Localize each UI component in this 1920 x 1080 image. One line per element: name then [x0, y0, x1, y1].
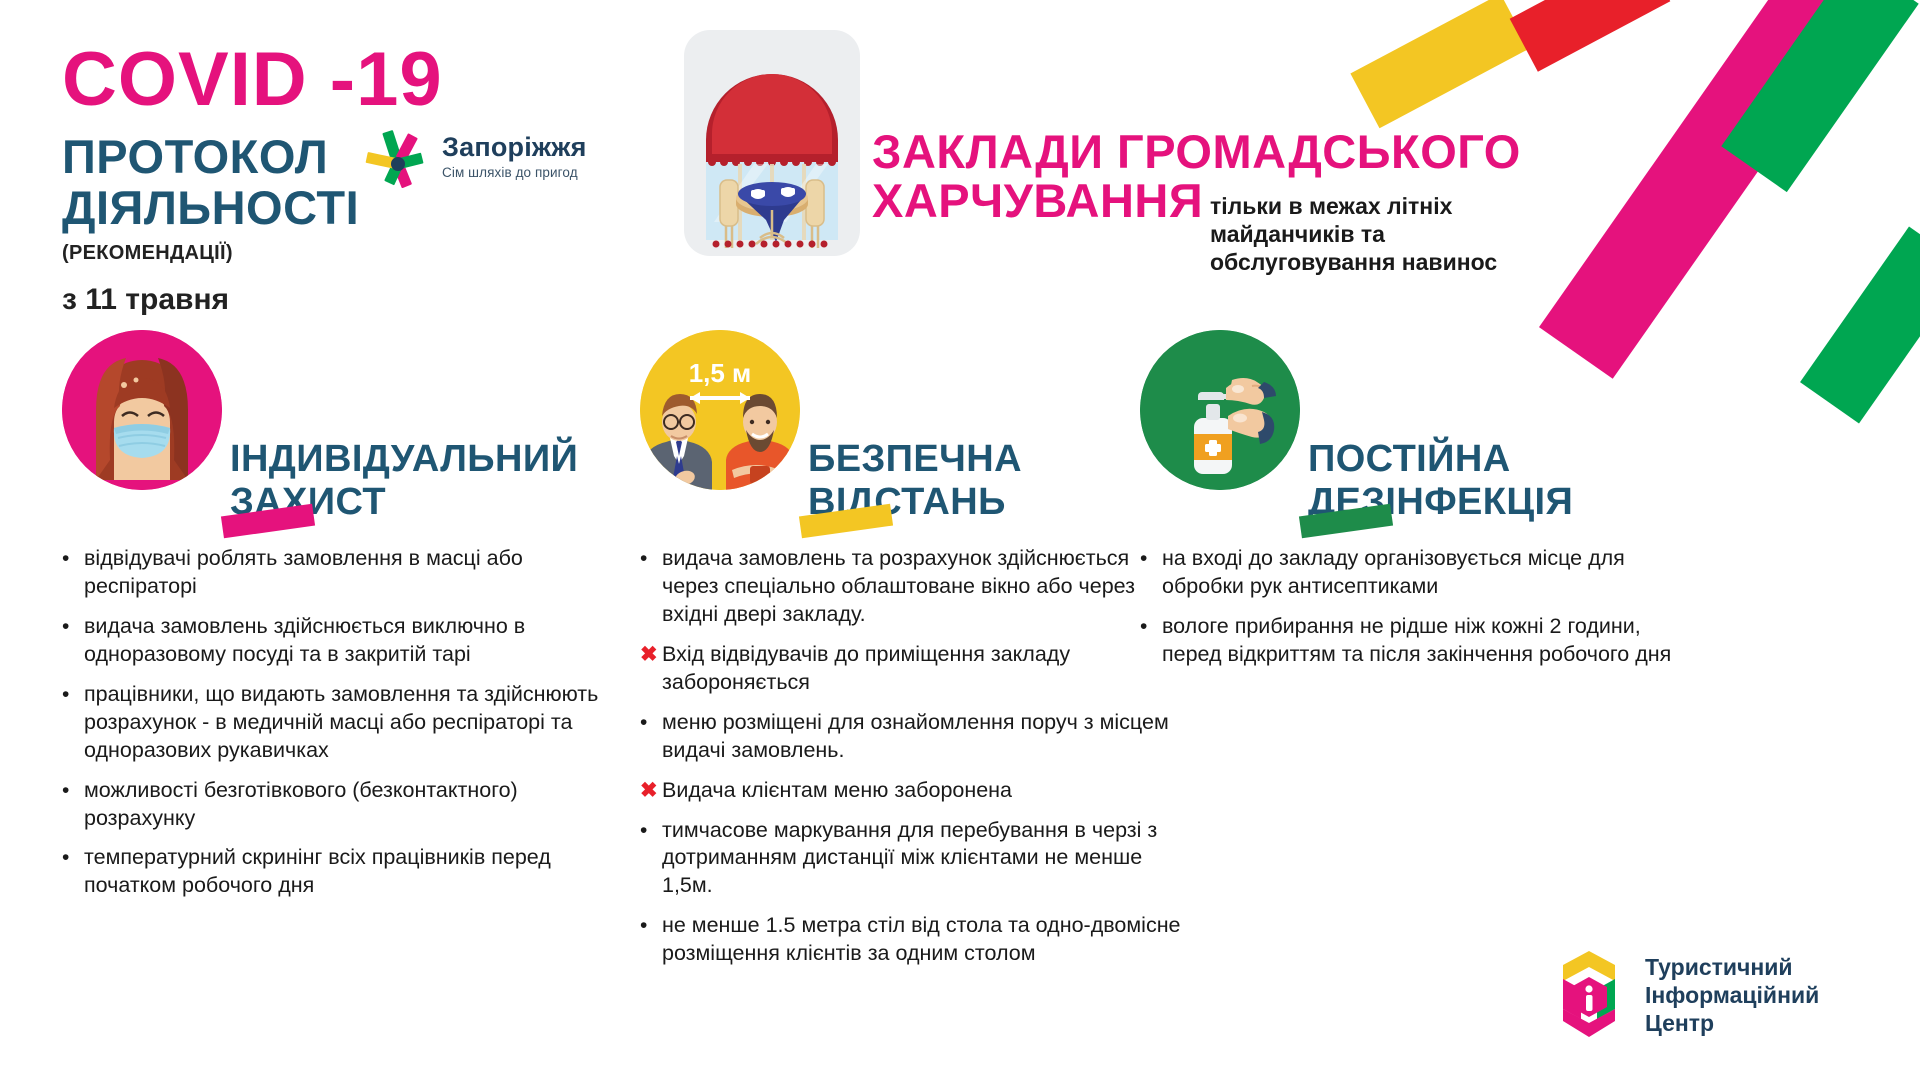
tourist-info-center-logo: Туристичний Інформаційний Центр — [1545, 945, 1875, 1055]
effective-date: з 11 травня — [62, 283, 682, 317]
city-name: Запоріжжя — [442, 132, 587, 163]
bullet-dot-icon: • — [640, 545, 647, 572]
list-item-text: видача замовлень та розрахунок здійснюєт… — [662, 546, 1135, 626]
list-item-text: Вхід відвідувачів до приміщення закладу … — [662, 642, 1070, 694]
city-slogan: Сім шляхів до пригод — [442, 165, 587, 180]
list-item: •меню розміщені для ознайомлення поруч з… — [640, 709, 1185, 765]
section-bullet-list: •відвідувачі роблять замовлення в масці … — [62, 545, 622, 900]
zaporizhzhia-star-icon — [362, 124, 434, 196]
ribbon-green-mid-decoration — [1800, 227, 1920, 424]
list-item: •температурний скринінг всіх працівників… — [62, 844, 622, 900]
list-item: •видача замовлень та розрахунок здійснює… — [640, 545, 1185, 629]
list-item: •тимчасове маркування для перебування в … — [640, 817, 1185, 901]
woman-with-mask-icon — [62, 330, 222, 490]
section-header: ІНДИВІДУАЛЬНИЙ ЗАХИСТ — [62, 330, 622, 545]
restaurant-window-icon — [672, 22, 872, 270]
section-personal-protection: ІНДИВІДУАЛЬНИЙ ЗАХИСТ •відвідувачі робля… — [62, 330, 622, 912]
list-item: •відвідувачі роблять замовлення в масці … — [62, 545, 622, 601]
list-item-text: меню розміщені для ознайомлення поруч з … — [662, 710, 1169, 762]
bullet-dot-icon: • — [62, 545, 69, 572]
list-item-text: можливості безготівкового (безконтактног… — [84, 778, 518, 830]
list-item: •вологе прибирання не рідше ніж кожні 2 … — [1140, 613, 1700, 669]
bullet-dot-icon: • — [62, 681, 69, 708]
section-title-line-1: ПОСТІЙНА — [1308, 438, 1573, 481]
establishment-title-line-1: ЗАКЛАДИ ГРОМАДСЬКОГО — [872, 128, 1882, 177]
section-header: ПОСТІЙНА ДЕЗІНФЕКЦІЯ — [1140, 330, 1700, 545]
list-item: •видача замовлень здійснюється виключно … — [62, 613, 622, 669]
tic-line-2: Інформаційний — [1645, 981, 1819, 1009]
list-item: •на вході до закладу організовується міс… — [1140, 545, 1700, 601]
two-people-distance-icon: 1,5 м — [640, 330, 800, 490]
section-header: 1,5 м БЕЗПЕЧНА ВІДСТАНЬ — [640, 330, 1185, 545]
infographic-page: COVID -19 ПРОТОКОЛ ДІЯЛЬНОСТІ (РЕКОМЕНДА… — [0, 0, 1920, 1080]
recommendations-label: (РЕКОМЕНДАЦІЇ) — [62, 242, 682, 265]
tic-hexagon-icon — [1545, 947, 1633, 1043]
svg-text:1,5 м: 1,5 м — [689, 358, 752, 388]
tic-logo-text: Туристичний Інформаційний Центр — [1645, 953, 1819, 1037]
list-item-text: Видача клієнтам меню заборонена — [662, 778, 1012, 802]
section-bullet-list: •на вході до закладу організовується міс… — [1140, 545, 1700, 669]
section-safe-distance: 1,5 м БЕЗПЕЧНА ВІДСТАНЬ •видача замо — [640, 330, 1185, 980]
list-item-text: на вході до закладу організовується місц… — [1162, 546, 1625, 598]
bullet-dot-icon: • — [62, 777, 69, 804]
list-item: •не менше 1.5 метра стіл від стола та од… — [640, 912, 1185, 968]
bullet-dot-icon: • — [62, 844, 69, 871]
list-item-text: тимчасове маркування для перебування в ч… — [662, 818, 1157, 898]
zaporizhzhia-logo: Запоріжжя Сім шляхів до пригод — [362, 124, 592, 198]
tic-line-3: Центр — [1645, 1009, 1819, 1037]
section-title-line-1: ІНДИВІДУАЛЬНИЙ — [230, 438, 578, 481]
establishment-note: тільки в межах літніх майданчиків та обс… — [1210, 192, 1540, 276]
page-title: COVID -19 — [62, 42, 682, 118]
bullet-cross-icon: ✖ — [640, 777, 658, 804]
bullet-cross-icon: ✖ — [640, 641, 658, 668]
list-item: •працівники, що видають замовлення та зд… — [62, 681, 622, 765]
list-item-text: відвідувачі роблять замовлення в масці а… — [84, 546, 523, 598]
section-constant-disinfection: ПОСТІЙНА ДЕЗІНФЕКЦІЯ •на вході до заклад… — [1140, 330, 1700, 681]
bullet-dot-icon: • — [1140, 613, 1147, 640]
bullet-dot-icon: • — [62, 613, 69, 640]
header-right-block: ЗАКЛАДИ ГРОМАДСЬКОГО ХАРЧУВАННЯ тільки в… — [872, 128, 1882, 226]
section-bullet-list: •видача замовлень та розрахунок здійснює… — [640, 545, 1185, 968]
tic-line-1: Туристичний — [1645, 953, 1819, 981]
list-item-text: вологе прибирання не рідше ніж кожні 2 г… — [1162, 614, 1671, 666]
list-item-text: видача замовлень здійснюється виключно в… — [84, 614, 525, 666]
zaporizhzhia-logo-text: Запоріжжя Сім шляхів до пригод — [442, 132, 587, 180]
list-item: •можливості безготівкового (безконтактно… — [62, 777, 622, 833]
bullet-dot-icon: • — [640, 912, 647, 939]
hand-sanitizer-icon — [1140, 330, 1300, 490]
ribbon-red-decoration — [1510, 0, 1671, 72]
bullet-dot-icon: • — [640, 817, 647, 844]
bullet-dot-icon: • — [640, 709, 647, 736]
section-title-line-1: БЕЗПЕЧНА — [808, 438, 1022, 481]
list-item-text: температурний скринінг всіх працівників … — [84, 845, 551, 897]
list-item: ✖Вхід відвідувачів до приміщення закладу… — [640, 641, 1185, 697]
list-item: ✖Видача клієнтам меню заборонена — [640, 777, 1185, 805]
ribbon-yellow-decoration — [1350, 0, 1529, 128]
list-item-text: працівники, що видають замовлення та зді… — [84, 682, 598, 762]
bullet-dot-icon: • — [1140, 545, 1147, 572]
list-item-text: не менше 1.5 метра стіл від стола та одн… — [662, 913, 1181, 965]
